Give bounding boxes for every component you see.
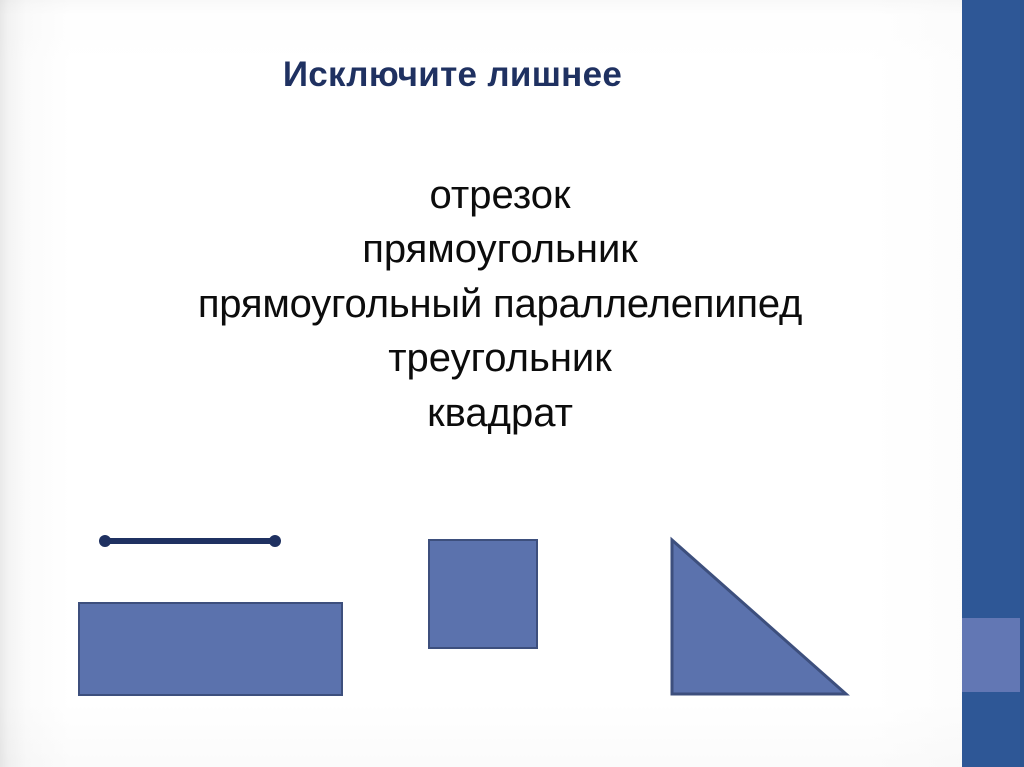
triangle-shape (668, 536, 850, 698)
figure-group (0, 0, 1024, 767)
square-shape (428, 539, 538, 649)
segment-shape (104, 538, 276, 544)
rectangle-shape (78, 602, 343, 696)
slide: Исключите лишнее отрезок прямоугольник п… (0, 0, 1024, 767)
